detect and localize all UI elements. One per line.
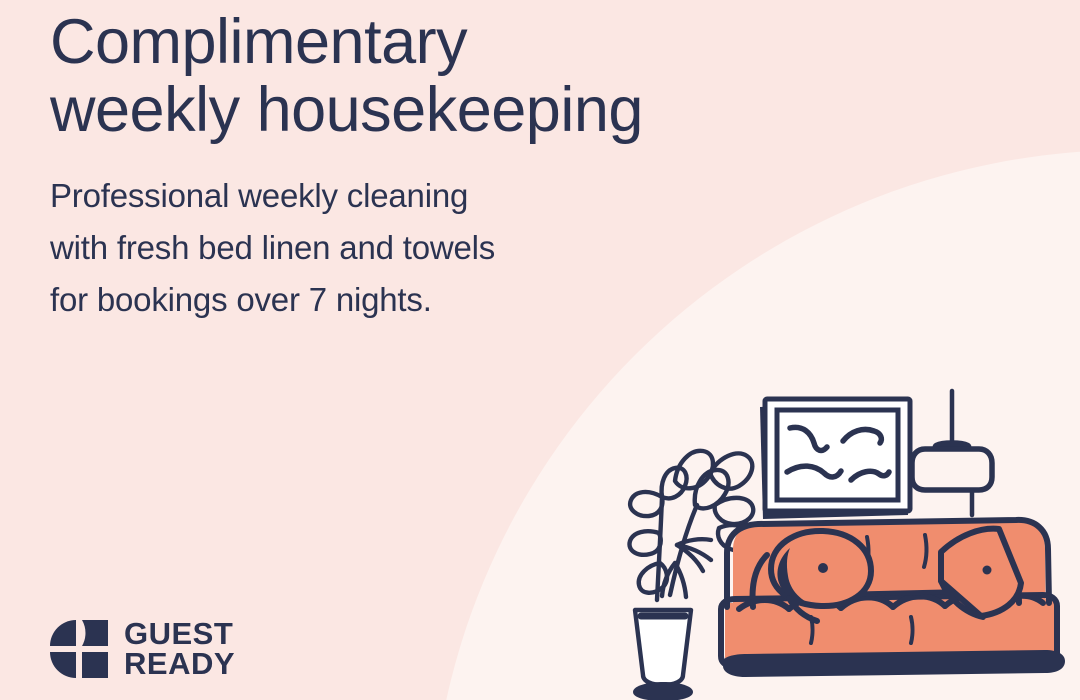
logo-word-bottom: READY bbox=[124, 649, 235, 679]
orange-sofa-icon bbox=[721, 520, 1065, 677]
page-title: Complimentary weekly housekeeping bbox=[50, 8, 690, 144]
framed-picture-icon bbox=[760, 399, 910, 519]
promo-banner: Complimentary weekly housekeeping Profes… bbox=[0, 0, 1080, 700]
guestready-quadrant-mark-icon bbox=[48, 618, 110, 680]
guestready-wordmark: GUEST READY bbox=[124, 619, 235, 679]
logo-word-top: GUEST bbox=[124, 619, 235, 649]
copy-block: Complimentary weekly housekeeping Profes… bbox=[50, 8, 690, 326]
pendant-lamp-icon bbox=[912, 391, 992, 515]
living-room-illustration bbox=[615, 385, 1080, 700]
page-subtitle: Professional weekly cleaning with fresh … bbox=[50, 144, 690, 326]
guestready-logo[interactable]: GUEST READY bbox=[48, 618, 235, 680]
